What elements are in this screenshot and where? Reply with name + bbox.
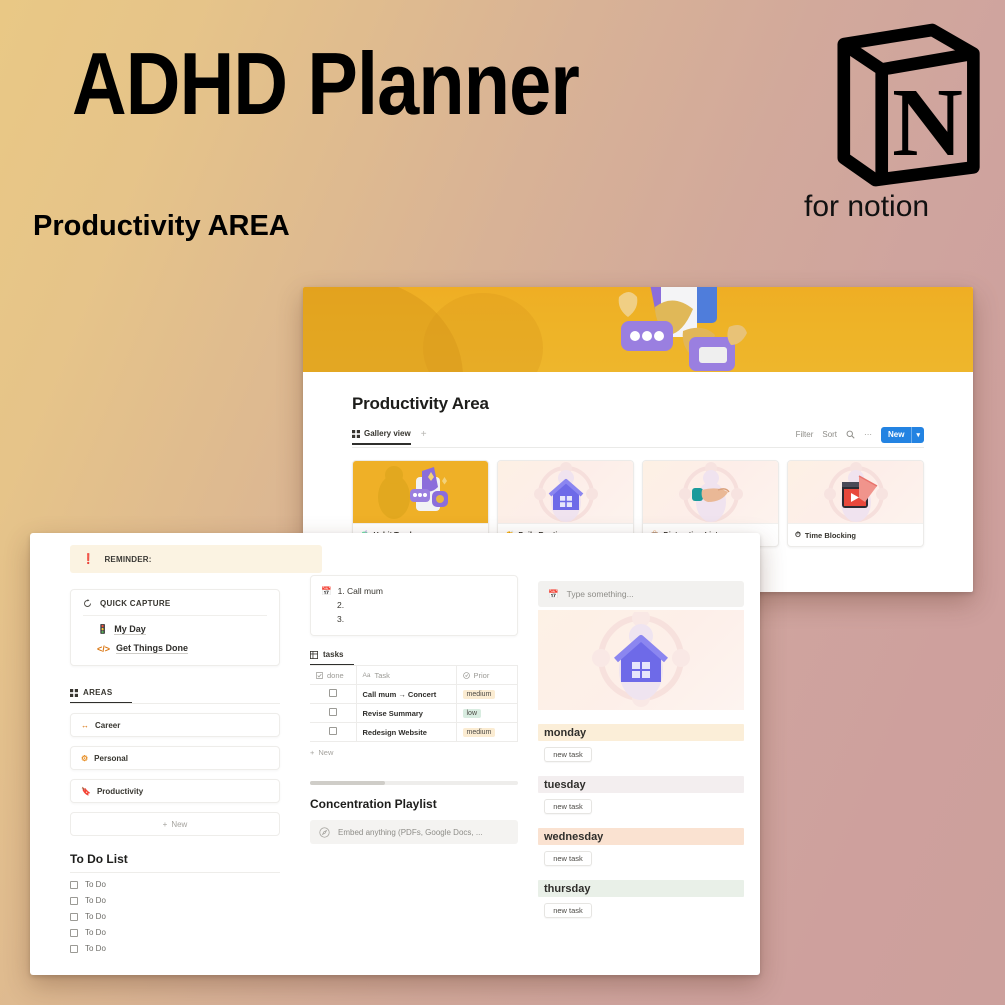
row-task-cell[interactable]: Redesign Website — [356, 723, 456, 742]
distraction-illustration — [656, 462, 766, 522]
page-cover-image — [303, 287, 973, 372]
quick-capture-item-my-day[interactable]: 🚦 My Day — [83, 624, 267, 635]
new-task-button-thursday[interactable]: new task — [544, 903, 592, 918]
new-area-button[interactable]: + New — [70, 812, 280, 836]
numbered-list-item[interactable]: 1. Call mum — [338, 584, 383, 598]
dashboard-left-column: ❗ REMINDER: QUICK CAPTURE 🚦 My Day </> — [30, 533, 298, 975]
area-item-label: Career — [95, 721, 120, 730]
table-row[interactable]: Revise Summary low — [310, 704, 518, 723]
embed-placeholder-block[interactable]: Embed anything (PDFs, Google Docs, ... — [310, 820, 518, 844]
todo-item-label: To Do — [85, 912, 106, 921]
new-row-label: New — [318, 748, 333, 757]
filter-button[interactable]: Filter — [796, 430, 814, 439]
row-checkbox-cell[interactable] — [310, 723, 356, 742]
page-title: ADHD Planner — [72, 40, 579, 128]
area-item-label: Personal — [94, 754, 128, 763]
page-subtitle: Productivity AREA — [33, 210, 290, 243]
checkbox-icon[interactable] — [329, 727, 337, 735]
row-priority-cell[interactable]: medium — [456, 723, 518, 742]
row-priority-cell[interactable]: low — [456, 704, 518, 723]
numbered-list-row: 📅 1. Call mum — [321, 584, 507, 598]
column-label: Prior — [474, 671, 490, 680]
numbered-list-item[interactable]: 3. — [337, 612, 344, 626]
day-header-wednesday: wednesday — [538, 828, 744, 845]
new-button[interactable]: New ▾ — [881, 427, 924, 443]
quick-capture-card: QUICK CAPTURE 🚦 My Day </> Get Things Do… — [70, 589, 280, 666]
add-view-button[interactable]: + — [421, 429, 427, 440]
search-icon[interactable] — [846, 430, 855, 439]
cover-illustration — [533, 287, 783, 372]
quick-capture-title: QUICK CAPTURE — [100, 599, 171, 608]
quick-capture-item-label: Get Things Done — [116, 643, 188, 654]
numbered-list-card: 📅 1. Call mum 2. 3. — [310, 575, 518, 636]
day-label: monday — [544, 727, 586, 739]
todo-item-label: To Do — [85, 896, 106, 905]
checkbox-icon[interactable] — [70, 897, 78, 905]
column-header-priority[interactable]: Prior — [456, 666, 518, 685]
card-label: Time Blocking — [805, 531, 856, 540]
text-type-icon: Aa — [363, 672, 371, 679]
quick-capture-header: QUICK CAPTURE — [83, 599, 267, 616]
day-label: wednesday — [544, 831, 603, 843]
todo-list-title: To Do List — [70, 852, 280, 873]
new-task-button-tuesday[interactable]: new task — [544, 799, 592, 814]
code-icon: </> — [97, 644, 110, 654]
dashboard-right-column: 📅 Type something... — [530, 533, 760, 975]
column-header-done[interactable]: done — [310, 666, 356, 685]
reminder-label: REMINDER: — [104, 555, 151, 564]
table-header-row: done Aa Task — [310, 666, 518, 685]
exclamation-icon: ❗ — [82, 554, 94, 565]
numbered-list-row: 2. — [321, 598, 507, 612]
checkbox-icon[interactable] — [70, 913, 78, 921]
horizontal-scrollbar[interactable] — [310, 781, 518, 785]
todo-item[interactable]: To Do — [70, 944, 280, 953]
new-task-label: new task — [553, 906, 583, 915]
card-thumbnail — [353, 461, 488, 523]
habit-illustration — [376, 463, 466, 521]
dashboard-window: ❗ REMINDER: QUICK CAPTURE 🚦 My Day </> — [30, 533, 760, 975]
select-icon — [463, 672, 470, 679]
plus-icon: + — [310, 748, 314, 757]
card-thumbnail — [498, 461, 633, 523]
chevron-down-icon[interactable]: ▾ — [911, 427, 924, 443]
new-task-label: new task — [553, 750, 583, 759]
day-header-monday: monday — [538, 724, 744, 741]
new-task-label: new task — [553, 854, 583, 863]
new-button-label: New — [881, 430, 911, 439]
card-caption: ⏱ Time Blocking — [788, 523, 923, 546]
quick-capture-item-label: My Day — [114, 624, 146, 635]
type-something-input[interactable]: 📅 Type something... — [538, 581, 744, 607]
areas-tab-label: AREAS — [83, 688, 113, 697]
playlist-title: Concentration Playlist — [310, 797, 518, 811]
todo-item-label: To Do — [85, 944, 106, 953]
new-task-label: new task — [553, 802, 583, 811]
day-label: tuesday — [544, 779, 586, 791]
checkbox-icon[interactable] — [329, 689, 337, 697]
new-task-row-button[interactable]: + New — [310, 748, 518, 757]
calendar-icon: 📅 — [321, 584, 332, 598]
table-row[interactable]: Call mum → Concert medium — [310, 685, 518, 704]
plus-icon: + — [163, 820, 168, 829]
numbered-list-row: 3. — [321, 612, 507, 626]
gallery-card[interactable]: ⏱ Time Blocking — [787, 460, 924, 547]
compass-icon — [319, 827, 330, 838]
row-task-cell[interactable]: Call mum → Concert — [356, 685, 456, 704]
checkbox-icon — [316, 672, 323, 679]
area-item-label: Productivity — [97, 787, 143, 796]
checkbox-icon[interactable] — [70, 929, 78, 937]
row-task-cell[interactable]: Revise Summary — [356, 704, 456, 723]
checkbox-icon[interactable] — [329, 708, 337, 716]
dashboard-middle-column: 📅 1. Call mum 2. 3. tasks — [298, 533, 530, 975]
day-label: thursday — [544, 883, 590, 895]
house-icon — [561, 612, 721, 708]
column-label: Task — [374, 671, 389, 680]
row-checkbox-cell[interactable] — [310, 685, 356, 704]
more-horizontal-icon[interactable]: ··· — [864, 430, 872, 439]
priority-tag: low — [463, 709, 482, 718]
embed-placeholder-text: Embed anything (PDFs, Google Docs, ... — [338, 828, 483, 837]
view-tab-label: Gallery view — [364, 429, 411, 438]
view-toolbar: Gallery view + Filter Sort ··· New ▾ — [352, 426, 924, 448]
todo-item-label: To Do — [85, 880, 106, 889]
poster-canvas: ADHD Planner Productivity AREA N for not… — [0, 0, 1005, 1005]
quick-capture-item-get-things-done[interactable]: </> Get Things Done — [83, 643, 267, 654]
for-notion-label: for notion — [804, 190, 929, 224]
priority-tag: medium — [463, 690, 496, 699]
row-priority-cell[interactable]: medium — [456, 685, 518, 704]
column-header-task[interactable]: Aa Task — [356, 666, 456, 685]
todo-item[interactable]: To Do — [70, 880, 280, 889]
card-thumbnail — [788, 461, 923, 523]
new-area-label: New — [171, 820, 187, 829]
notion-logo-icon: N — [828, 22, 986, 188]
scrollbar-thumb[interactable] — [310, 781, 385, 785]
reminder-callout: ❗ REMINDER: — [70, 545, 322, 573]
column-label: done — [327, 671, 344, 680]
tab-tasks[interactable]: tasks — [310, 650, 354, 666]
checkbox-icon[interactable] — [70, 881, 78, 889]
todo-item[interactable]: To Do — [70, 896, 280, 905]
table-view-icon — [310, 651, 318, 659]
divider — [70, 703, 280, 704]
todo-item-label: To Do — [85, 928, 106, 937]
calendar-icon: 📅 — [548, 589, 559, 600]
todo-item[interactable]: To Do — [70, 928, 280, 937]
bookmark-icon: 🔖 — [81, 787, 91, 796]
new-task-button-wednesday[interactable]: new task — [544, 851, 592, 866]
area-item-career[interactable]: ↔ Career — [70, 713, 280, 737]
checkbox-icon[interactable] — [70, 945, 78, 953]
todo-item[interactable]: To Do — [70, 912, 280, 921]
table-row[interactable]: Redesign Website medium — [310, 723, 518, 742]
area-item-productivity[interactable]: 🔖 Productivity — [70, 779, 280, 803]
card-icon: ⏱ — [795, 530, 801, 540]
gallery-view-icon — [70, 689, 78, 697]
daily-routine-illustration — [511, 462, 621, 522]
priority-tag: medium — [463, 728, 496, 737]
refresh-icon — [83, 599, 92, 608]
tasks-tab-label: tasks — [323, 650, 343, 659]
area-item-personal[interactable]: ⚙ Personal — [70, 746, 280, 770]
sort-button[interactable]: Sort — [822, 430, 837, 439]
time-blocking-illustration — [801, 462, 911, 522]
gallery-view-icon — [352, 430, 360, 438]
row-checkbox-cell[interactable] — [310, 704, 356, 723]
day-header-thursday: thursday — [538, 880, 744, 897]
tab-gallery-view[interactable]: Gallery view — [352, 429, 411, 445]
traffic-light-icon: 🚦 — [97, 624, 108, 635]
tasks-table: done Aa Task — [310, 665, 518, 742]
card-thumbnail — [643, 461, 778, 523]
svg-text:N: N — [892, 69, 963, 177]
tab-areas[interactable]: AREAS — [70, 688, 132, 704]
new-task-button-monday[interactable]: new task — [544, 747, 592, 762]
gear-icon: ⚙ — [81, 754, 88, 763]
routine-illustration-block — [538, 610, 744, 710]
arrows-icon: ↔ — [81, 721, 89, 730]
database-title: Productivity Area — [352, 394, 924, 414]
type-something-placeholder: Type something... — [567, 589, 634, 599]
numbered-list-item[interactable]: 2. — [337, 598, 344, 612]
day-header-tuesday: tuesday — [538, 776, 744, 793]
